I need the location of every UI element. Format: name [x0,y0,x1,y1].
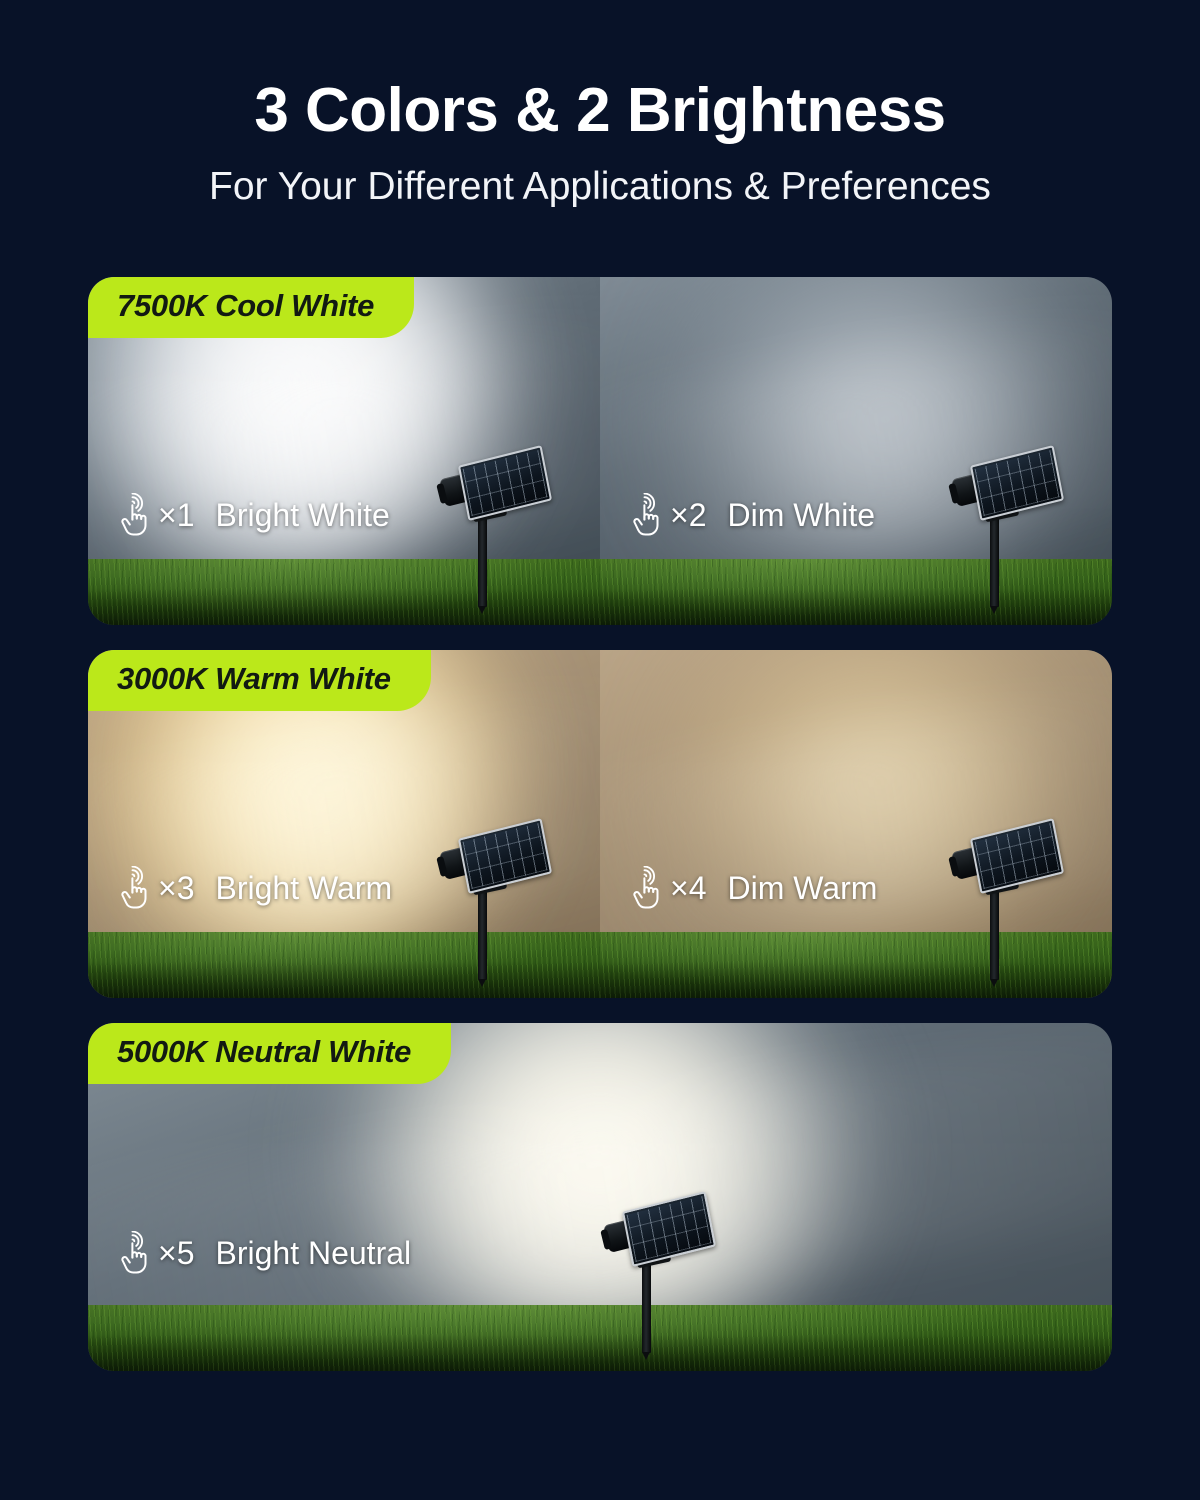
caption-dim-white: ×2 Dim White [626,493,875,537]
mode-label: Dim Warm [727,870,877,907]
solar-panel [970,445,1064,521]
card-cool-white: 7500K Cool White [88,277,1112,625]
tap-hand-icon [114,1231,154,1275]
solar-spotlight [600,1173,720,1353]
solar-spotlight [436,427,556,607]
tap-hand-icon [626,493,666,537]
caption-bright-white: ×1 Bright White [114,493,390,537]
badge-neutral-white: 5000K Neutral White [88,1023,451,1084]
badge-cool-white: 7500K Cool White [88,277,414,338]
solar-spotlight [436,800,556,980]
solar-panel [458,445,552,521]
solar-panel [458,818,552,894]
tap-count: ×4 [670,870,706,907]
caption-bright-warm: ×3 Bright Warm [114,866,392,910]
mode-label: Dim White [727,497,875,534]
tap-count: ×5 [158,1235,194,1272]
caption-dim-warm: ×4 Dim Warm [626,866,877,910]
solar-panel-cells [975,823,1060,889]
mode-label: Bright Neutral [215,1235,411,1272]
tap-hand-icon [114,493,154,537]
solar-panel [970,818,1064,894]
header: 3 Colors & 2 Brightness For Your Differe… [0,0,1200,209]
pane-dim-white: ×2 Dim White [600,277,1112,625]
pane-dim-warm: ×4 Dim Warm [600,650,1112,998]
lamp-stake [478,511,487,607]
color-mode-cards: 7500K Cool White [88,277,1112,1396]
page-title: 3 Colors & 2 Brightness [0,78,1200,143]
tap-count: ×1 [158,497,194,534]
solar-panel-cells [463,823,548,889]
lamp-stake [478,884,487,980]
solar-panel [622,1191,716,1267]
tap-count: ×2 [670,497,706,534]
page-subtitle: For Your Different Applications & Prefer… [0,165,1200,209]
badge-warm-white: 3000K Warm White [88,650,431,711]
solar-panel-cells [975,450,1060,516]
solar-panel-cells [463,450,548,516]
solar-spotlight [948,427,1068,607]
card-warm-white: 3000K Warm White [88,650,1112,998]
lamp-stake [990,511,999,607]
tap-hand-icon [626,866,666,910]
lamp-stake [642,1257,651,1353]
caption-bright-neutral: ×5 Bright Neutral [114,1231,411,1275]
infographic-page: 3 Colors & 2 Brightness For Your Differe… [0,0,1200,1500]
tap-count: ×3 [158,870,194,907]
mode-label: Bright White [215,497,389,534]
tap-hand-icon [114,866,154,910]
card-neutral-white: 5000K Neutral White [88,1023,1112,1371]
lamp-stake [990,884,999,980]
mode-label: Bright Warm [215,870,392,907]
solar-panel-cells [627,1196,712,1262]
solar-spotlight [948,800,1068,980]
